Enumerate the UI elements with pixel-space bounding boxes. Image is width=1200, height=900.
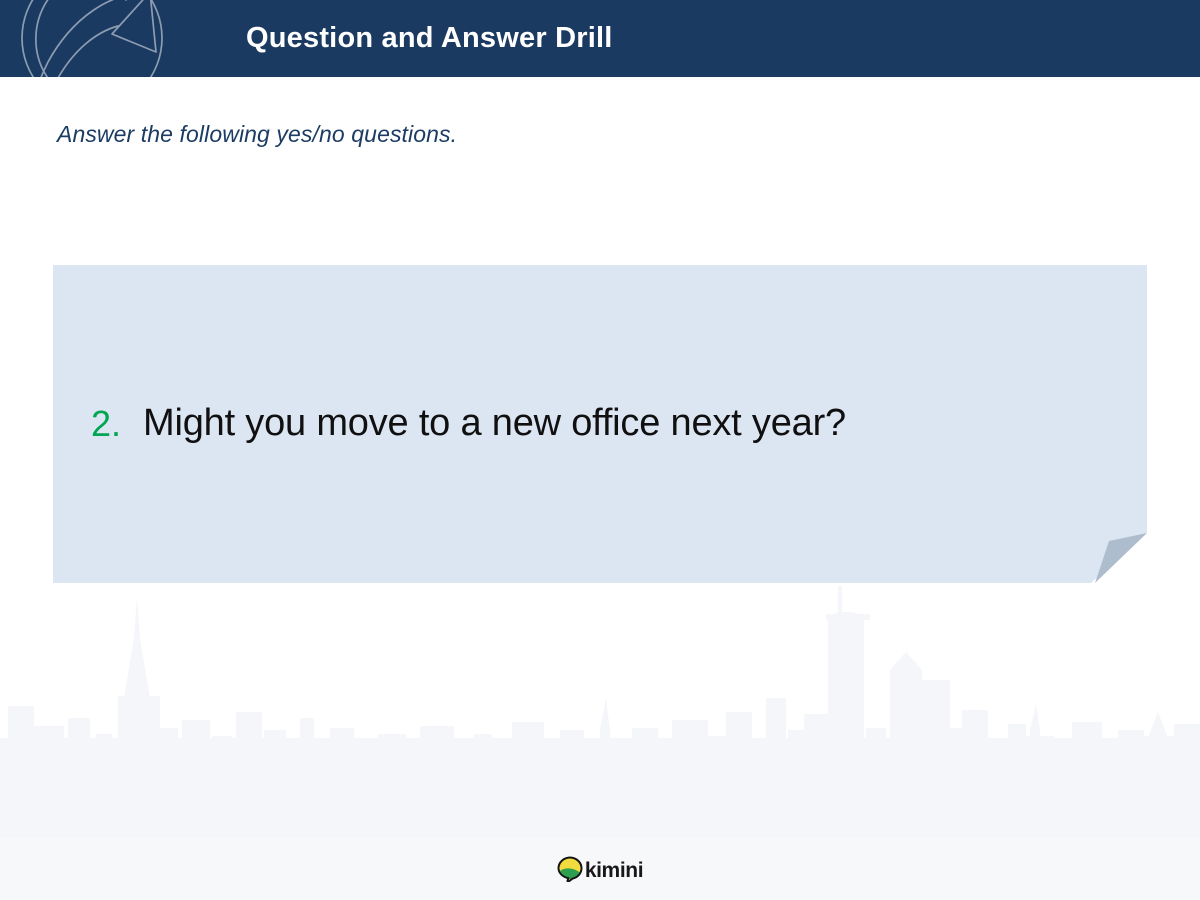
kimini-balloon-logo-icon	[557, 856, 583, 882]
question-row: 2. Might you move to a new office next y…	[53, 265, 1147, 583]
question-number: 2.	[91, 406, 121, 442]
page-title: Question and Answer Drill	[246, 0, 612, 77]
city-skyline-watermark-icon	[0, 578, 1200, 838]
brand-name: kimini	[585, 860, 643, 881]
instruction-text: Answer the following yes/no questions.	[57, 121, 457, 148]
kimini-g-monogram-icon	[0, 0, 200, 77]
brand-logo: kimini	[0, 838, 1200, 900]
slide-header: Question and Answer Drill	[0, 0, 1200, 77]
question-card: 2. Might you move to a new office next y…	[53, 265, 1147, 583]
slide-root: Question and Answer Drill Answer the fol…	[0, 0, 1200, 900]
question-text: Might you move to a new office next year…	[143, 402, 846, 446]
